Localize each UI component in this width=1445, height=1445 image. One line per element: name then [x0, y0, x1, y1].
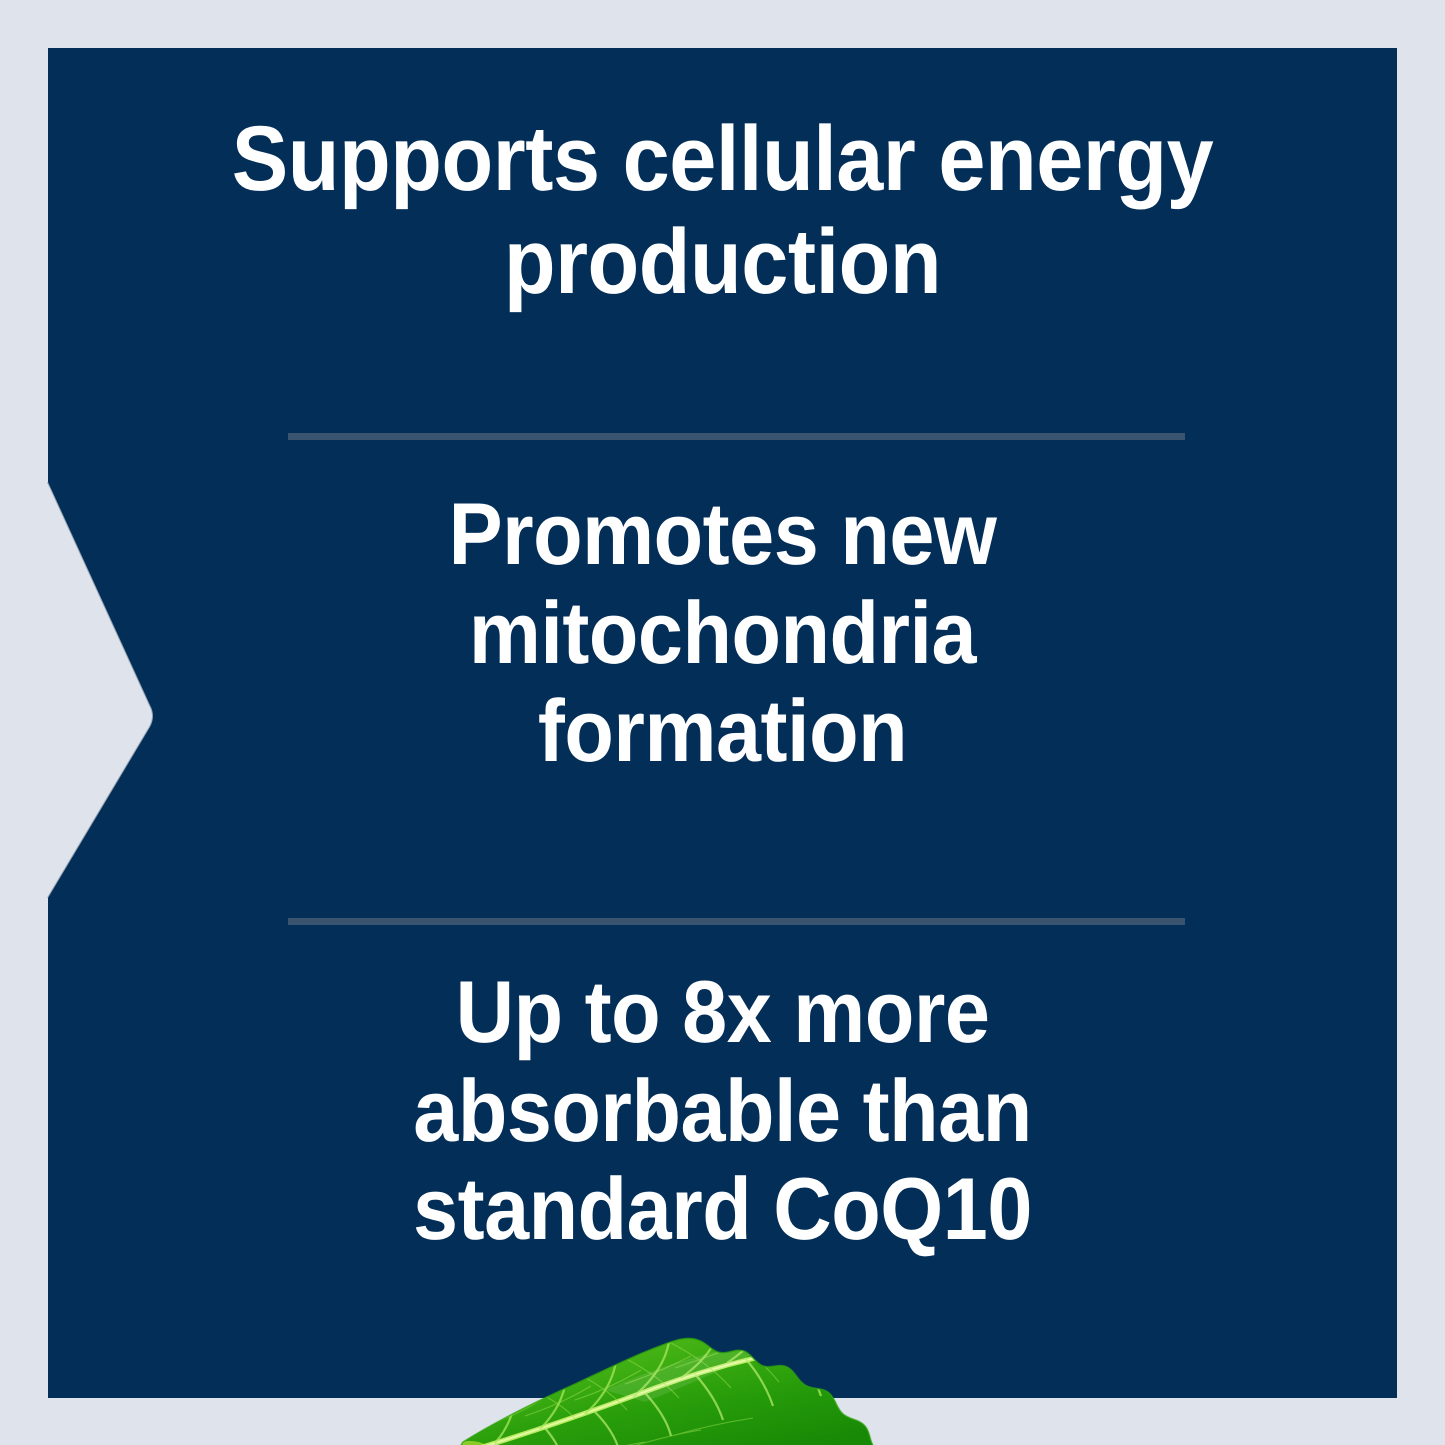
- benefit-claim-3: Up to 8x more absorbable than standard C…: [102, 963, 1343, 1259]
- benefit-divider-1: [288, 433, 1185, 440]
- benefit-claim-2: Promotes new mitochondria formation: [102, 485, 1343, 781]
- benefit-claim-1: Supports cellular energy production: [102, 108, 1343, 314]
- product-benefits-graphic: Supports cellular energy production Prom…: [0, 0, 1445, 1445]
- benefits-content: Supports cellular energy production Prom…: [48, 48, 1397, 1398]
- benefit-divider-2: [288, 918, 1185, 925]
